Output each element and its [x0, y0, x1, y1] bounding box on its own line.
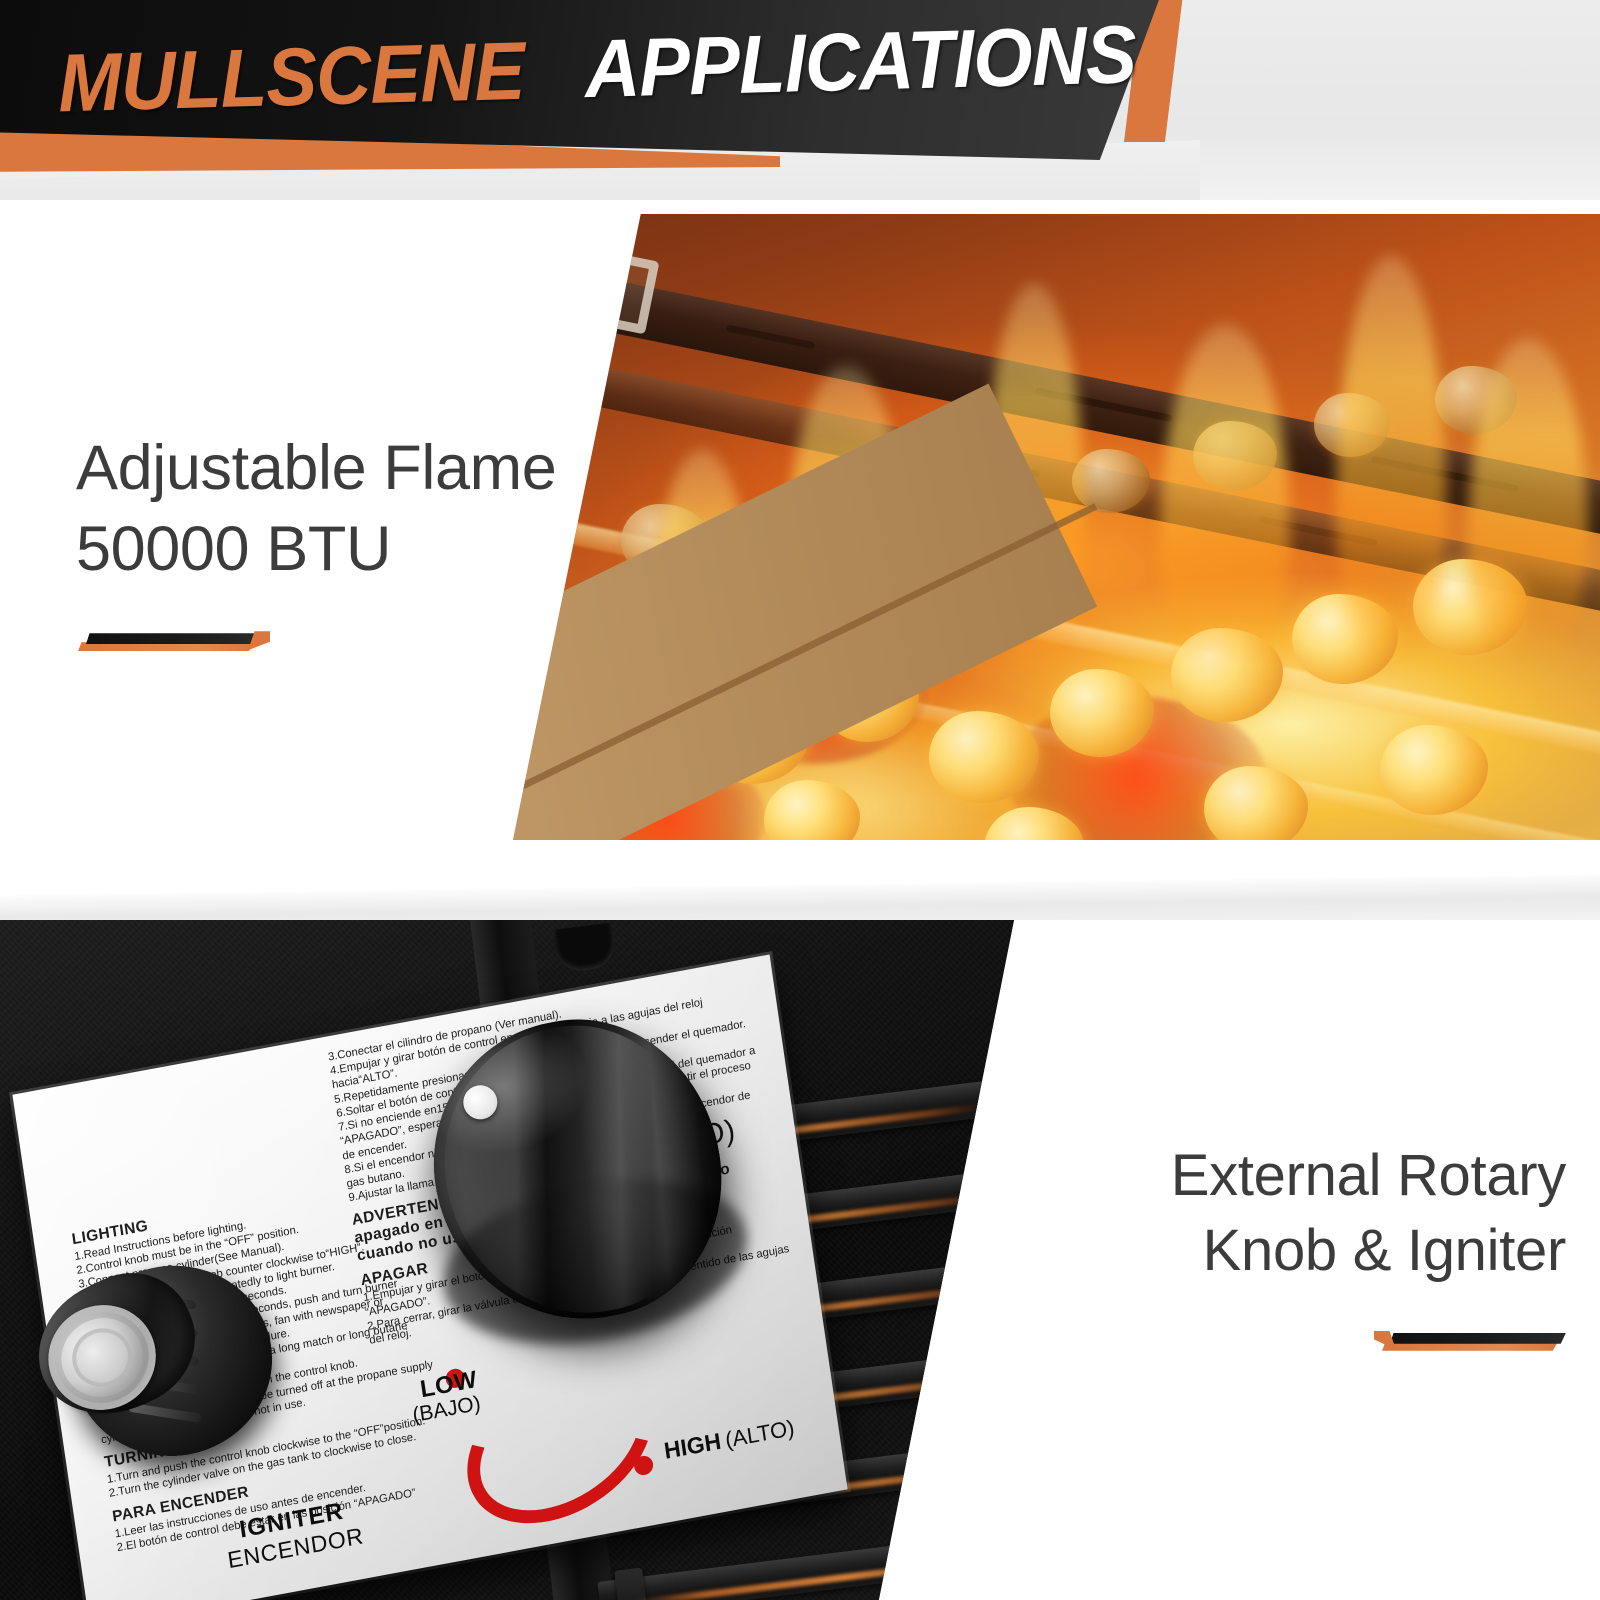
- accent-black-bar: [1390, 1333, 1566, 1344]
- accent-black-bar: [86, 633, 262, 644]
- infographic-canvas: MULLSCENE APPLICATIONS: [0, 0, 1600, 1600]
- high-label-en: HIGH: [662, 1428, 722, 1464]
- flame-heading-line-1: Adjustable Flame: [76, 428, 636, 509]
- brand-name: MULLSCENE: [57, 31, 525, 126]
- high-marker-dot: [633, 1454, 654, 1476]
- knob-heading-line-1: External Rotary: [990, 1138, 1566, 1213]
- feature-section-flame: Adjustable Flame 50000 BTU: [0, 200, 1600, 900]
- high-setting-label: HIGH (ALTO): [662, 1414, 796, 1465]
- range-arc: [439, 1329, 681, 1556]
- high-label-es: (ALTO): [723, 1415, 796, 1453]
- knob-heading-line-2: Knob & Igniter: [990, 1213, 1566, 1288]
- flame-photo: [500, 214, 1600, 900]
- accent-underline: [1376, 1329, 1566, 1359]
- flame-feature-text: Adjustable Flame 50000 BTU: [76, 428, 636, 659]
- knob-feature-text: External Rotary Knob & Igniter: [990, 1138, 1566, 1359]
- flame-heading-line-2: 50000 BTU: [76, 509, 636, 590]
- header-banner: MULLSCENE APPLICATIONS: [0, 0, 1600, 230]
- title-word: APPLICATIONS: [584, 14, 1137, 111]
- accent-underline: [76, 629, 266, 659]
- low-setting-label: LOW (BAJO): [407, 1367, 482, 1428]
